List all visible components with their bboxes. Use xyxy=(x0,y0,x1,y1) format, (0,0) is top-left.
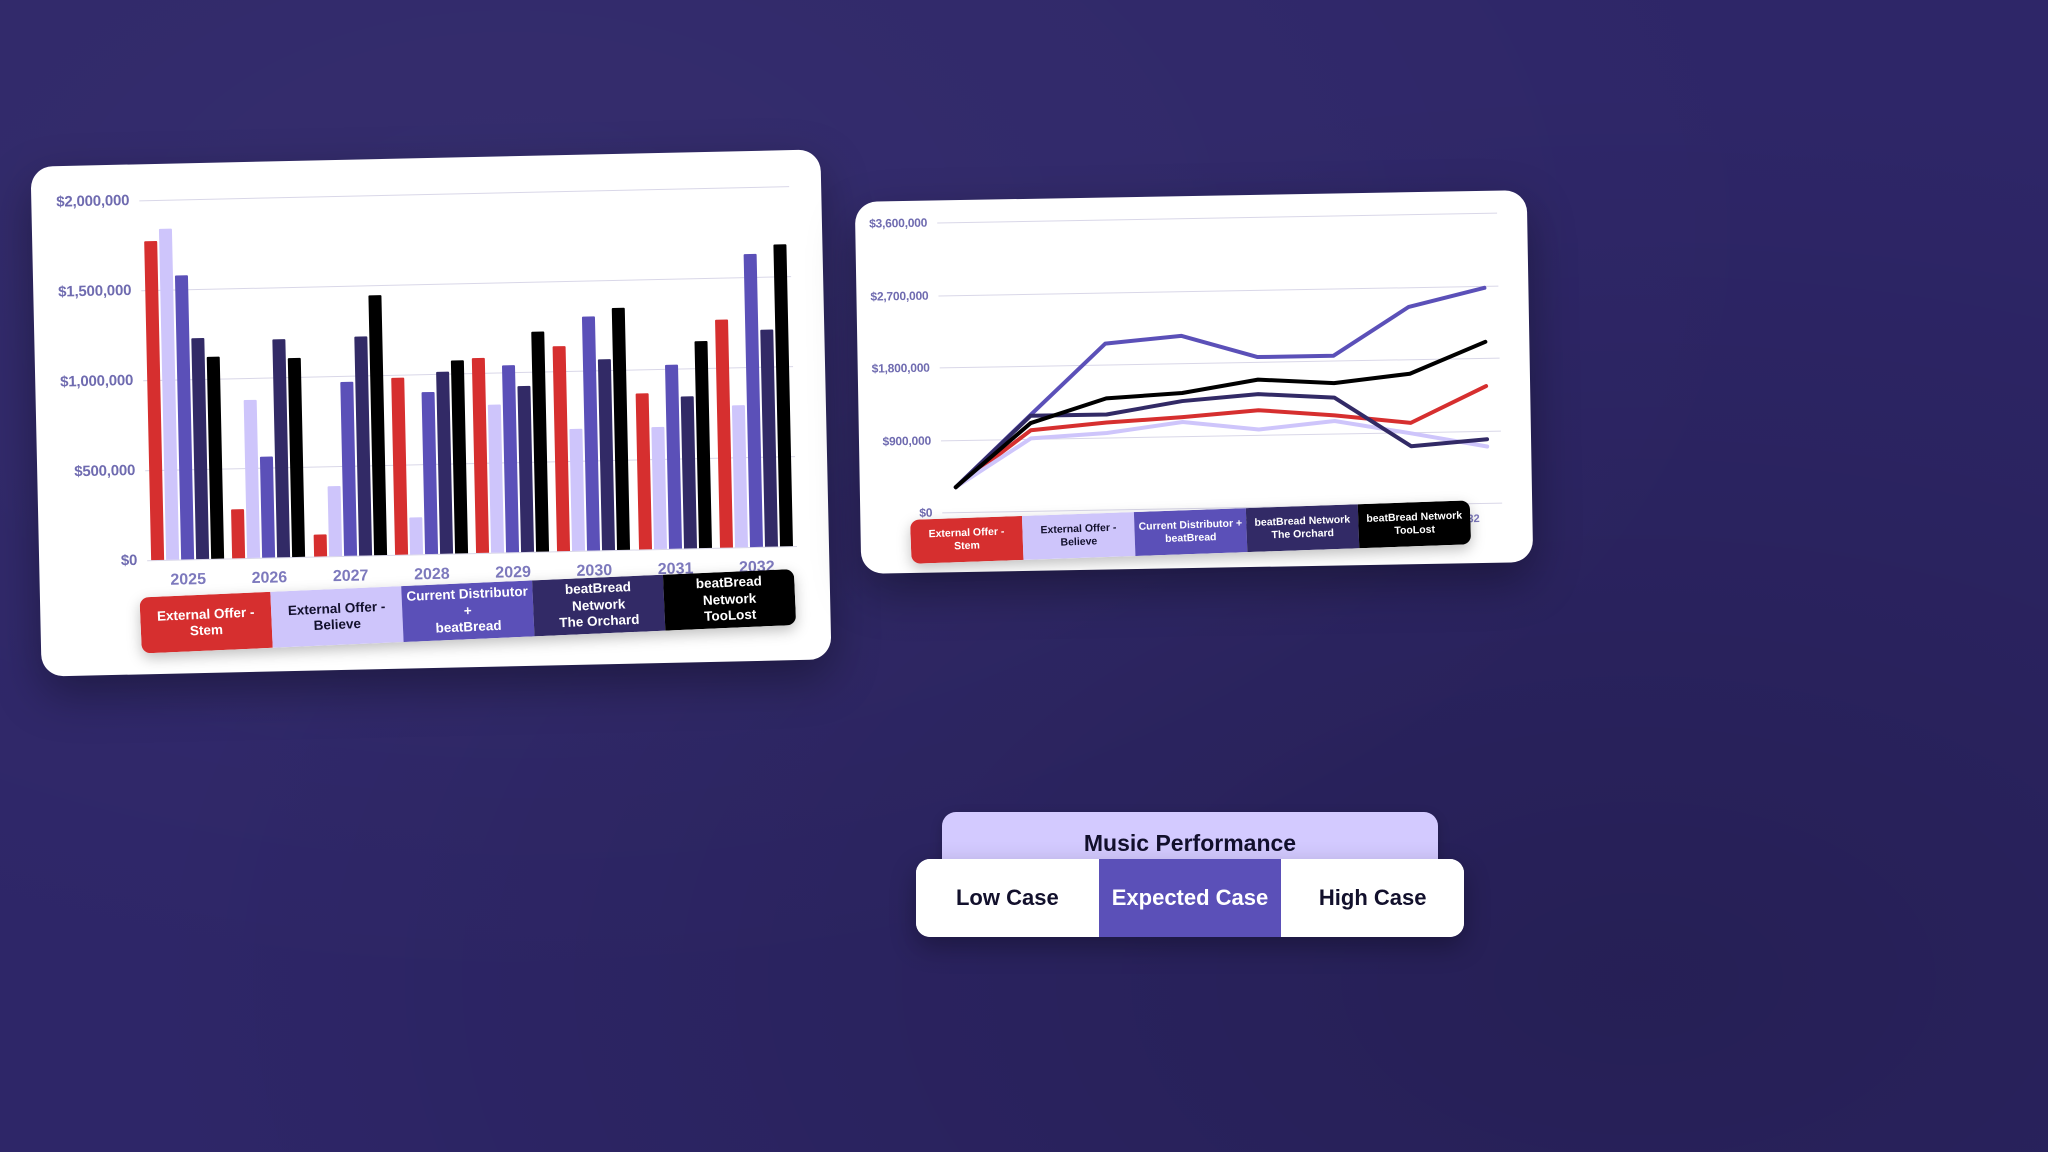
bar[interactable] xyxy=(680,396,696,548)
bar[interactable] xyxy=(409,517,423,554)
legend-item-label-line2: Stem xyxy=(954,539,980,553)
legend-item-3[interactable]: beatBread NetworkThe Orchard xyxy=(532,575,665,637)
legend-item-label-line2: beatBread xyxy=(1165,531,1217,546)
bar[interactable] xyxy=(488,405,504,553)
x-axis-tick-label: 2026 xyxy=(251,569,287,588)
legend-item-1[interactable]: External Offer -Believe xyxy=(1022,512,1135,560)
bar[interactable] xyxy=(436,372,453,554)
y-axis-tick-label: $1,500,000 xyxy=(58,282,131,301)
scenario-tab-expected-case[interactable]: Expected Case xyxy=(1099,859,1282,937)
music-performance-selector[interactable]: Music Performance Low CaseExpected CaseH… xyxy=(916,812,1464,937)
y-axis-tick-label: $500,000 xyxy=(74,462,135,480)
bar[interactable] xyxy=(531,331,549,552)
line-chart-series-svg xyxy=(937,213,1502,513)
legend-item-label-line2: The Orchard xyxy=(559,612,640,632)
line-chart-plot-area: $3,600,000$2,700,000$1,800,000$900,000$0… xyxy=(937,213,1502,513)
bar-chart-bars xyxy=(139,186,789,200)
bar[interactable] xyxy=(260,457,275,558)
legend-item-0[interactable]: External Offer -Stem xyxy=(139,592,272,654)
scenario-tab-low-case[interactable]: Low Case xyxy=(916,859,1099,937)
bar[interactable] xyxy=(732,405,748,547)
bar-group-2030 xyxy=(545,190,634,552)
y-axis-tick-label: $900,000 xyxy=(882,433,931,448)
bar[interactable] xyxy=(694,341,712,548)
bar[interactable] xyxy=(502,365,519,552)
legend-item-label-line2: Stem xyxy=(190,622,224,640)
y-axis-tick-label: $1,000,000 xyxy=(60,372,133,391)
bar-group-2031 xyxy=(627,188,716,550)
y-axis-tick-label: $3,600,000 xyxy=(869,216,927,231)
bar-group-2027 xyxy=(302,195,391,557)
bar[interactable] xyxy=(651,427,667,550)
x-axis-tick-label: 2025 xyxy=(170,571,206,590)
legend-item-0[interactable]: External Offer -Stem xyxy=(910,516,1023,564)
x-axis-tick-label: 2027 xyxy=(333,567,369,586)
legend-item-label-line2: The Orchard xyxy=(1271,527,1334,542)
bar[interactable] xyxy=(472,358,489,554)
bar[interactable] xyxy=(244,399,260,558)
bar[interactable] xyxy=(391,377,408,555)
bar-group-2032 xyxy=(708,186,797,548)
bar[interactable] xyxy=(598,359,615,550)
bar-group-2029 xyxy=(464,191,553,553)
x-axis-tick-label: 2028 xyxy=(414,566,450,585)
bar[interactable] xyxy=(635,394,651,550)
legend-item-label-line2: Believe xyxy=(1060,535,1097,549)
legend-item-label-line2: TooLost xyxy=(704,607,757,626)
y-axis-tick-label: $0 xyxy=(919,506,932,520)
legend-item-label-line2: beatBread xyxy=(435,618,502,637)
y-axis-tick-label: $2,700,000 xyxy=(870,288,928,303)
bar-group-2028 xyxy=(383,193,472,555)
bar[interactable] xyxy=(313,534,326,557)
bar[interactable] xyxy=(207,357,224,559)
legend-item-label-line2: TooLost xyxy=(1394,524,1435,538)
bar[interactable] xyxy=(518,386,535,552)
bar[interactable] xyxy=(231,509,245,559)
legend-item-label-line1: beatBread Network xyxy=(667,572,791,610)
line-chart-card: $3,600,000$2,700,000$1,800,000$900,000$0… xyxy=(855,190,1533,574)
line-series[interactable] xyxy=(955,417,1488,487)
scenario-selector-tabs[interactable]: Low CaseExpected CaseHigh Case xyxy=(916,859,1464,937)
bar[interactable] xyxy=(582,316,600,550)
y-axis-tick-label: $2,000,000 xyxy=(56,192,129,211)
bar-group-2026 xyxy=(221,197,310,559)
legend-item-4[interactable]: beatBread NetworkTooLost xyxy=(663,569,796,631)
legend-item-1[interactable]: External Offer -Believe xyxy=(270,586,403,648)
bar-chart-legend[interactable]: External Offer -StemExternal Offer -Beli… xyxy=(139,569,796,654)
bar[interactable] xyxy=(553,346,570,551)
bar[interactable] xyxy=(570,428,586,551)
legend-item-2[interactable]: Current Distributor +beatBread xyxy=(401,580,534,642)
bar[interactable] xyxy=(421,392,438,554)
bar[interactable] xyxy=(327,486,342,556)
bar[interactable] xyxy=(340,382,357,556)
legend-item-3[interactable]: beatBread NetworkThe Orchard xyxy=(1246,504,1359,552)
legend-item-label-line1: Current Distributor + xyxy=(405,584,529,622)
y-axis-tick-label: $1,800,000 xyxy=(872,361,930,376)
bar[interactable] xyxy=(288,358,305,557)
bar-chart-plot-area: $2,000,000$1,500,000$1,000,000$500,000$0… xyxy=(139,186,797,560)
bar-chart-card: $2,000,000$1,500,000$1,000,000$500,000$0… xyxy=(31,149,832,676)
y-axis-tick-label: $0 xyxy=(121,552,138,569)
bar[interactable] xyxy=(612,308,630,550)
bar[interactable] xyxy=(451,360,468,554)
scenario-tab-high-case[interactable]: High Case xyxy=(1281,859,1464,937)
bar[interactable] xyxy=(665,365,682,549)
legend-item-4[interactable]: beatBread NetworkTooLost xyxy=(1358,500,1471,548)
bar[interactable] xyxy=(715,320,733,548)
bar-group-2025 xyxy=(139,199,228,561)
legend-item-2[interactable]: Current Distributor +beatBread xyxy=(1134,508,1247,556)
legend-item-label-line2: Believe xyxy=(313,616,361,635)
legend-item-label-line1: beatBread Network xyxy=(536,578,660,616)
